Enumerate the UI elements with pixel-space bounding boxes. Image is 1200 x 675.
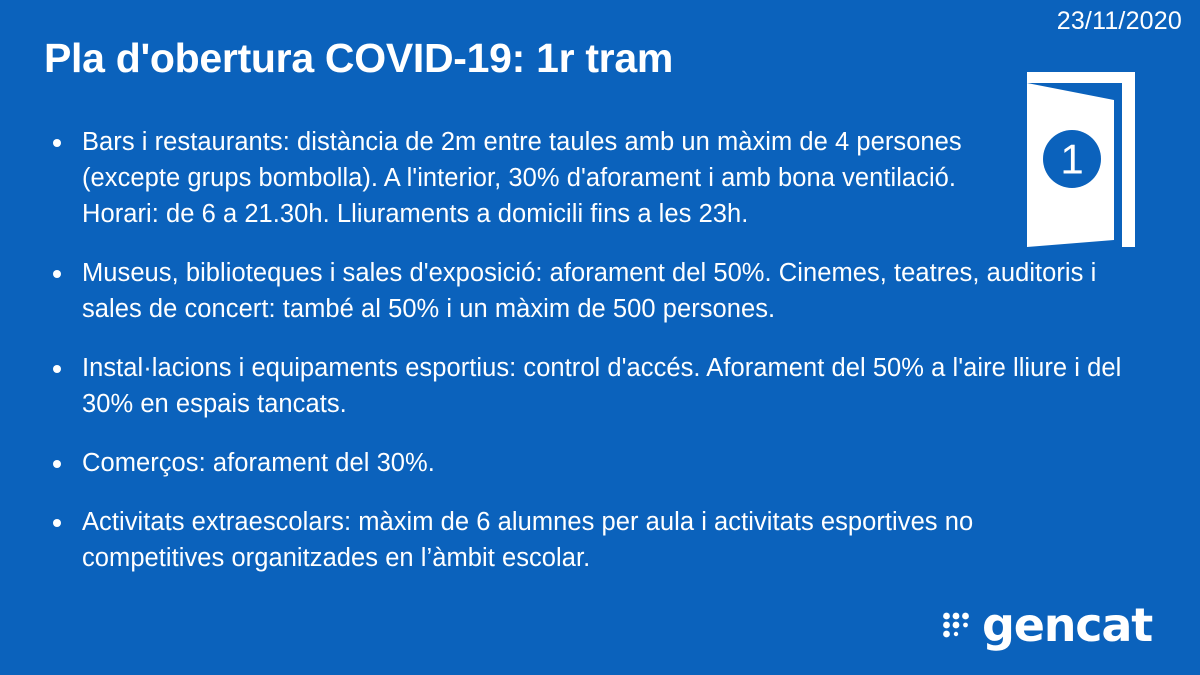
list-item: Instal·lacions i equipaments esportius: …: [44, 350, 1124, 422]
open-door-icon: 1: [1022, 72, 1140, 247]
bullet-dot-icon: [53, 139, 61, 147]
bullet-dot-icon: [53, 365, 61, 373]
list-item-text: Museus, biblioteques i sales d'exposició…: [82, 255, 1124, 327]
slide-canvas: 23/11/2020 Pla d'obertura COVID-19: 1r t…: [0, 0, 1200, 675]
list-item-text: Activitats extraescolars: màxim de 6 alu…: [82, 504, 987, 576]
list-item: Activitats extraescolars: màxim de 6 alu…: [44, 504, 1124, 576]
bullet-dot-icon: [53, 519, 61, 527]
gencat-dots-icon: [942, 610, 972, 640]
list-item: Museus, biblioteques i sales d'exposició…: [44, 255, 1124, 327]
bullet-dot-icon: [53, 270, 61, 278]
list-item-text: Comerços: aforament del 30%.: [82, 445, 1082, 481]
door-badge-number: 1: [1060, 136, 1083, 183]
gencat-logo: gencat: [942, 602, 1152, 648]
measures-list: Bars i restaurants: distància de 2m entr…: [44, 124, 1124, 576]
list-item: Comerços: aforament del 30%.: [44, 445, 1124, 481]
list-item-text: Instal·lacions i equipaments esportius: …: [82, 350, 1124, 422]
slide-date: 23/11/2020: [1057, 6, 1182, 36]
bullet-dot-icon: [53, 460, 61, 468]
page-title: Pla d'obertura COVID-19: 1r tram: [44, 35, 673, 82]
list-item-text: Bars i restaurants: distància de 2m entr…: [82, 124, 962, 232]
list-item: Bars i restaurants: distància de 2m entr…: [44, 124, 1124, 232]
gencat-wordmark: gencat: [982, 602, 1152, 648]
